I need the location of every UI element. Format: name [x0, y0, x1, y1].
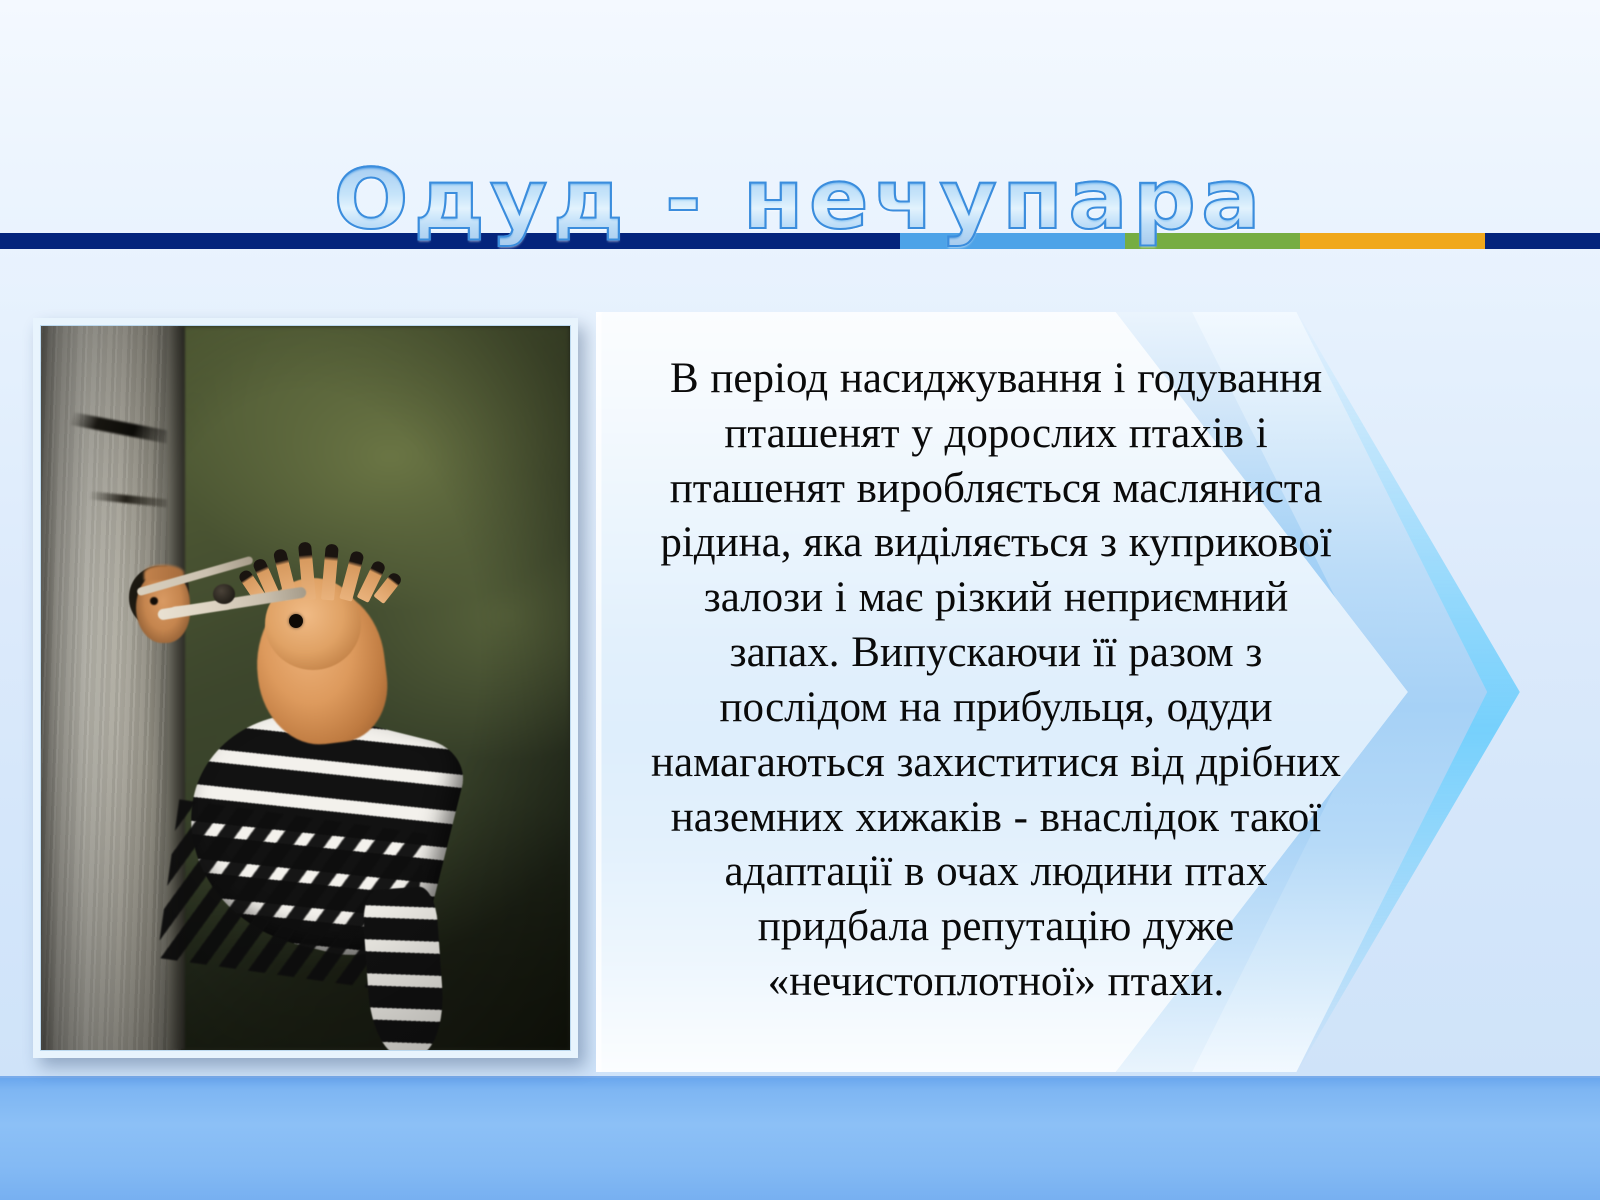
rule-segment-navy-left	[0, 233, 900, 249]
presentation-slide: Одуд - нечупара	[0, 0, 1600, 1200]
body-paragraph: В період насиджування і годування пташен…	[650, 352, 1342, 1010]
body-text-container: В період насиджування і годування пташен…	[616, 334, 1376, 1050]
text-panel-group: В період насиджування і годування пташен…	[596, 312, 1600, 1072]
rule-segment-navy-right	[1485, 233, 1600, 249]
rule-segment-light-blue	[900, 233, 1125, 249]
rule-segment-green	[1125, 233, 1300, 249]
slide-floor-band	[0, 1078, 1600, 1200]
rule-segment-orange	[1300, 233, 1485, 249]
photo-card	[33, 318, 578, 1058]
title-accent-rule	[0, 233, 1600, 249]
photo-vignette	[41, 326, 570, 1050]
hoopoe-photo	[40, 325, 571, 1051]
